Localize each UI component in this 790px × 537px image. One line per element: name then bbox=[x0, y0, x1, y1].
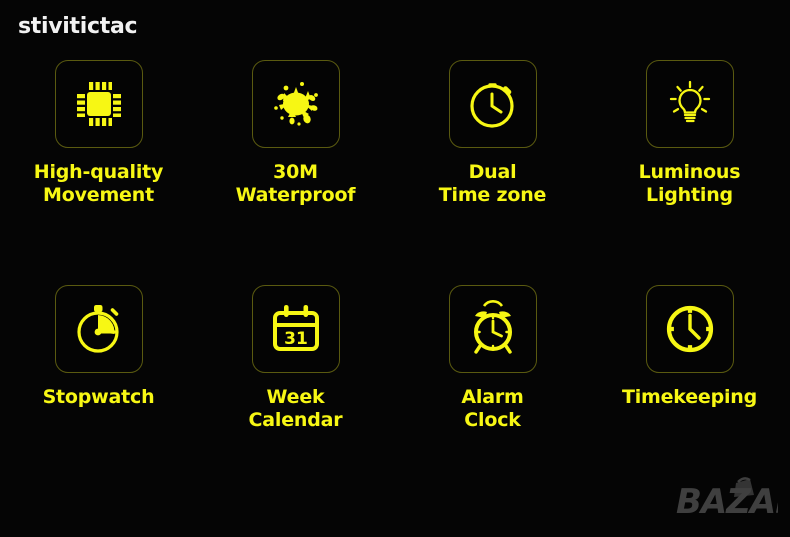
icon-box bbox=[449, 285, 537, 373]
bazar-watermark: BAZAR bbox=[674, 477, 778, 523]
stopwatch-icon bbox=[70, 300, 128, 358]
icon-box bbox=[646, 60, 734, 148]
feature-item: Dual Time zone bbox=[394, 60, 591, 285]
feature-label: High-quality Movement bbox=[34, 161, 163, 207]
feature-item: Stopwatch bbox=[0, 285, 197, 455]
feature-label: 30M Waterproof bbox=[236, 161, 356, 207]
feature-item: 30M Waterproof bbox=[197, 60, 394, 285]
microchip-icon bbox=[70, 75, 128, 133]
feature-label: Alarm Clock bbox=[461, 386, 523, 432]
alarm-clock-icon bbox=[464, 300, 522, 358]
icon-box bbox=[55, 285, 143, 373]
brand-title: stivitictac bbox=[18, 14, 137, 39]
feature-item: Alarm Clock bbox=[394, 285, 591, 455]
icon-box bbox=[252, 60, 340, 148]
feature-label: Dual Time zone bbox=[439, 161, 547, 207]
calendar-icon: 31 bbox=[267, 300, 325, 358]
feature-item: Timekeeping bbox=[591, 285, 788, 455]
feature-grid: High-quality Movement bbox=[0, 60, 790, 455]
watermark-text: BAZAR bbox=[676, 482, 778, 522]
icon-box bbox=[646, 285, 734, 373]
feature-label: Stopwatch bbox=[43, 386, 155, 409]
calendar-day-number: 31 bbox=[284, 329, 308, 349]
icon-box: 31 bbox=[252, 285, 340, 373]
timer-clock-icon bbox=[464, 75, 522, 133]
feature-label: Week Calendar bbox=[249, 386, 343, 432]
water-splash-icon bbox=[266, 75, 326, 133]
feature-infographic-page: stivitictac bbox=[0, 0, 790, 537]
icon-box-wrap: Luminous Lighting bbox=[591, 60, 788, 285]
wall-clock-icon bbox=[661, 300, 719, 358]
feature-label: Timekeeping bbox=[622, 386, 757, 409]
feature-item: High-quality Movement bbox=[0, 60, 197, 285]
feature-item: 31 Week Calendar bbox=[197, 285, 394, 455]
light-bulb-icon bbox=[661, 75, 719, 133]
feature-label: Luminous Lighting bbox=[639, 161, 741, 207]
icon-box bbox=[449, 60, 537, 148]
icon-box bbox=[55, 60, 143, 148]
